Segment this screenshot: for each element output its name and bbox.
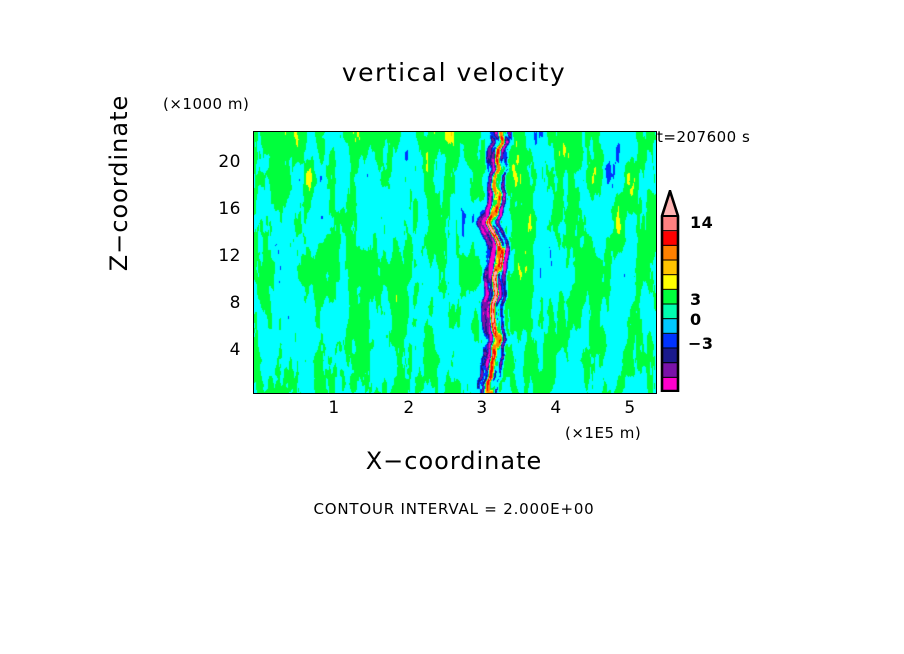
y-tick-label-16: 16 bbox=[205, 199, 241, 219]
x-tick-label-1: 1 bbox=[319, 398, 349, 418]
y-tick-label-4: 4 bbox=[205, 340, 241, 360]
y-tick-label-8: 8 bbox=[205, 293, 241, 313]
y-axis-unit-label: (×1000 m) bbox=[163, 95, 249, 113]
colorbar-label-0: 0 bbox=[690, 310, 702, 329]
contour-plot-area bbox=[253, 131, 657, 394]
contour-field-canvas bbox=[254, 132, 656, 393]
contour-interval-note: CONTOUR INTERVAL = 2.000E+00 bbox=[253, 500, 655, 518]
colorbar-label-14: 14 bbox=[690, 213, 713, 232]
y-tick-label-20: 20 bbox=[205, 152, 241, 172]
x-tick-label-3: 3 bbox=[467, 398, 497, 418]
x-tick-label-4: 4 bbox=[541, 398, 571, 418]
x-tick-label-2: 2 bbox=[394, 398, 424, 418]
x-axis-title: X−coordinate bbox=[253, 447, 655, 475]
x-axis-unit-label: (×1E5 m) bbox=[565, 424, 641, 442]
y-axis-title: Z−coordinate bbox=[105, 53, 135, 313]
colorbar-svg bbox=[659, 190, 681, 392]
page-title: vertical velocity bbox=[253, 58, 655, 87]
y-tick-label-12: 12 bbox=[205, 246, 241, 266]
figure-root: vertical velocity (×1000 m) t=207600 s Z… bbox=[0, 0, 904, 654]
colorbar-label-3: 3 bbox=[690, 290, 702, 309]
x-tick-label-5: 5 bbox=[615, 398, 645, 418]
colorbar bbox=[659, 190, 681, 392]
colorbar-label-neg3: −3 bbox=[688, 334, 714, 353]
time-annotation: t=207600 s bbox=[657, 128, 750, 146]
